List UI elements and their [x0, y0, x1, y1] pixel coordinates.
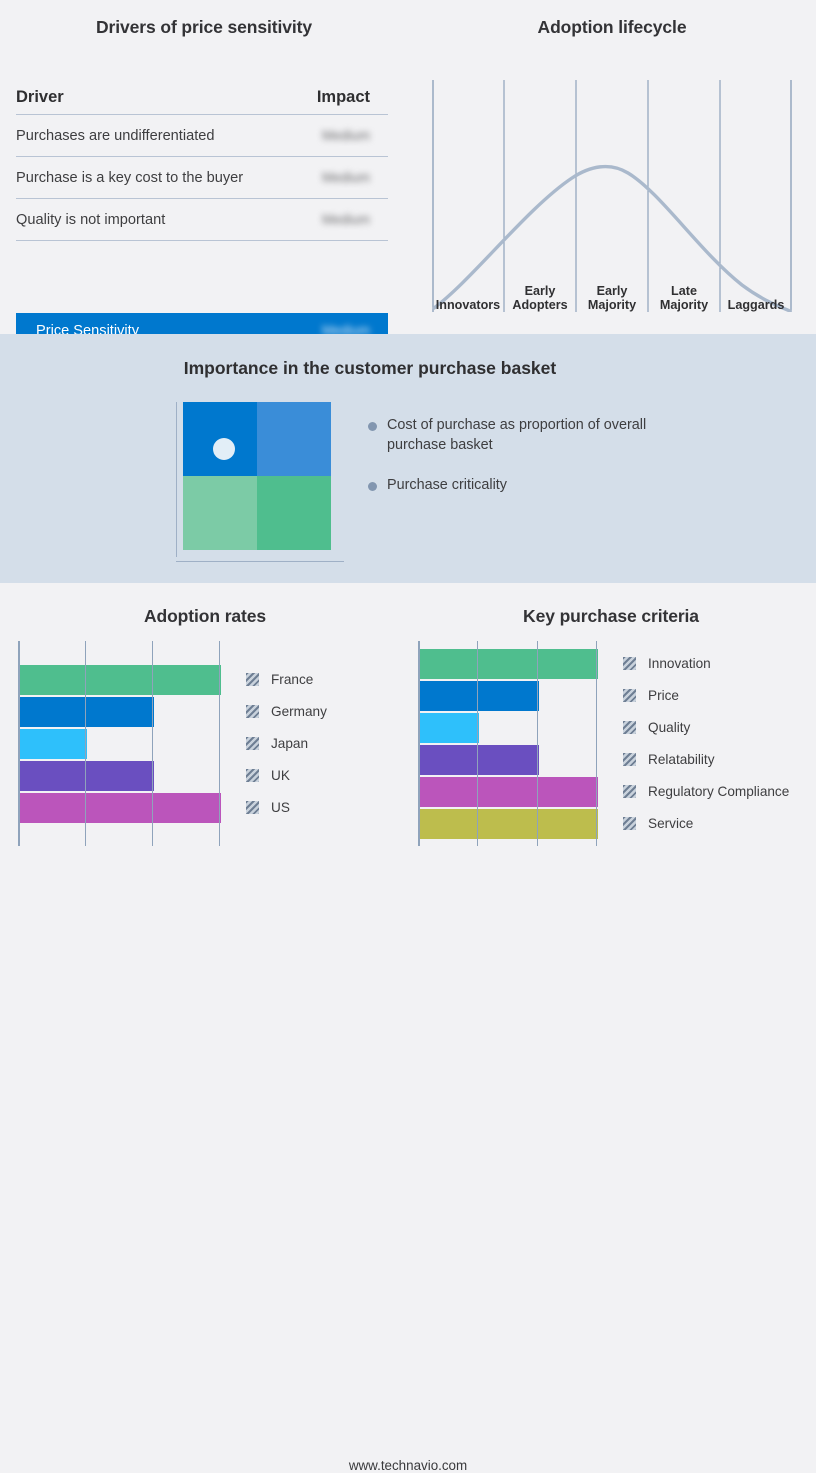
impact-value: Medium — [322, 128, 370, 143]
hatched-square-icon — [623, 785, 636, 798]
legend-label: Japan — [271, 736, 308, 751]
legend-item-cost-of-purchase: Cost of purchase as proportion of overal… — [368, 416, 668, 456]
quadrant-cell-top-right — [257, 402, 331, 476]
legend-item: UK — [246, 761, 327, 791]
adoption-rates-panel: Adoption rates FranceGermanyJapanUKUS — [0, 583, 410, 902]
table-row: Purchases are undifferentiated Medium — [16, 115, 388, 157]
legend-label: UK — [271, 768, 290, 783]
bar — [420, 745, 539, 775]
hatched-square-icon — [246, 801, 259, 814]
bar-row — [20, 729, 223, 759]
criteria-panel-title: Key purchase criteria — [406, 606, 816, 627]
bar-row — [420, 809, 600, 839]
gridline — [152, 641, 153, 846]
bar — [20, 729, 87, 759]
bar-row — [420, 777, 600, 807]
bullet-dot-icon — [368, 422, 377, 431]
legend-label: Quality — [648, 720, 690, 735]
hatched-square-icon — [623, 721, 636, 734]
lifecycle-segment-laggards: Laggards — [720, 274, 792, 314]
legend-label: Relatability — [648, 752, 715, 767]
legend-item: France — [246, 665, 327, 695]
quadrant-cell-bottom-left — [183, 476, 257, 550]
driver-label: Quality is not important — [16, 212, 165, 228]
hatched-square-icon — [246, 769, 259, 782]
quadrant-position-marker — [213, 438, 235, 460]
gridline — [537, 641, 538, 846]
bar — [420, 777, 598, 807]
column-header-impact: Impact — [317, 88, 370, 107]
drivers-of-price-sensitivity-panel: Drivers of price sensitivity Driver Impa… — [0, 0, 408, 334]
lifecycle-segment-innovators: Innovators — [432, 274, 504, 314]
legend-label: Cost of purchase as proportion of overal… — [387, 416, 649, 456]
hatched-square-icon — [623, 817, 636, 830]
bar — [20, 793, 221, 823]
hatched-square-icon — [246, 673, 259, 686]
quadrant-y-axis — [176, 402, 177, 557]
bar-row — [20, 697, 223, 727]
hatched-square-icon — [623, 753, 636, 766]
quadrant-x-axis — [176, 561, 344, 562]
criteria-plot-area — [418, 641, 598, 846]
bar-row — [420, 649, 600, 679]
criteria-legend: InnovationPriceQualityRelatabilityRegula… — [623, 641, 789, 846]
bar — [420, 809, 598, 839]
impact-value: Medium — [322, 212, 370, 227]
drivers-panel-title: Drivers of price sensitivity — [0, 17, 408, 38]
legend-item-purchase-criticality: Purchase criticality — [368, 476, 668, 496]
legend-label: Service — [648, 816, 693, 831]
criteria-bars — [420, 641, 600, 846]
legend-label: US — [271, 800, 290, 815]
quadrant-matrix-chart — [176, 402, 344, 562]
lifecycle-segment-labels: Innovators Early Adopters Early Majority… — [432, 274, 792, 314]
legend-item: Service — [623, 809, 789, 839]
purchase-basket-band: Importance in the customer purchase bask… — [0, 334, 816, 583]
bar — [20, 665, 221, 695]
legend-label: France — [271, 672, 313, 687]
legend-item: Japan — [246, 729, 327, 759]
gridline — [85, 641, 86, 846]
legend-item: Quality — [623, 713, 789, 743]
adoption-plot-area — [18, 641, 221, 846]
bar — [420, 649, 598, 679]
legend-label: Innovation — [648, 656, 711, 671]
bar-row — [420, 713, 600, 743]
bar — [20, 761, 154, 791]
drivers-table: Driver Impact Purchases are undifferenti… — [16, 88, 388, 241]
quadrant-grid — [183, 402, 331, 550]
hatched-square-icon — [623, 689, 636, 702]
legend-item: Regulatory Compliance — [623, 777, 789, 807]
gridline — [219, 641, 220, 846]
legend-item: Germany — [246, 697, 327, 727]
lifecycle-segment-early-majority: Early Majority — [576, 274, 648, 314]
lifecycle-segment-early-adopters: Early Adopters — [504, 274, 576, 314]
quadrant-cell-bottom-right — [257, 476, 331, 550]
bar-row — [20, 761, 223, 791]
adoption-panel-title: Adoption rates — [0, 606, 410, 627]
bar-row — [20, 665, 223, 695]
driver-label: Purchases are undifferentiated — [16, 128, 215, 144]
bar — [20, 697, 154, 727]
adoption-lifecycle-panel: Adoption lifecycle Innovators Early Adop… — [408, 0, 816, 334]
legend-label: Price — [648, 688, 679, 703]
bar — [420, 713, 479, 743]
adoption-legend: FranceGermanyJapanUKUS — [246, 641, 327, 846]
driver-label: Purchase is a key cost to the buyer — [16, 170, 243, 186]
legend-item: US — [246, 793, 327, 823]
impact-value: Medium — [322, 170, 370, 185]
gridline — [596, 641, 597, 846]
legend-item: Relatability — [623, 745, 789, 775]
bottom-band: Adoption rates FranceGermanyJapanUKUS Ke… — [0, 583, 816, 902]
hatched-square-icon — [246, 705, 259, 718]
basket-panel-title: Importance in the customer purchase bask… — [0, 358, 740, 379]
adoption-rates-chart: FranceGermanyJapanUKUS — [18, 641, 390, 846]
top-band: Drivers of price sensitivity Driver Impa… — [0, 0, 816, 334]
key-purchase-criteria-chart: InnovationPriceQualityRelatabilityRegula… — [418, 641, 808, 846]
legend-item: Price — [623, 681, 789, 711]
hatched-square-icon — [623, 657, 636, 670]
bar — [420, 681, 539, 711]
basket-legend: Cost of purchase as proportion of overal… — [368, 416, 668, 516]
hatched-square-icon — [246, 737, 259, 750]
lifecycle-panel-title: Adoption lifecycle — [408, 17, 816, 38]
lifecycle-segment-late-majority: Late Majority — [648, 274, 720, 314]
legend-label: Germany — [271, 704, 327, 719]
table-row: Quality is not important Medium — [16, 199, 388, 241]
bar-row — [20, 793, 223, 823]
legend-label: Regulatory Compliance — [648, 784, 789, 799]
bullet-dot-icon — [368, 482, 377, 491]
legend-item: Innovation — [623, 649, 789, 679]
table-row: Purchase is a key cost to the buyer Medi… — [16, 157, 388, 199]
key-purchase-criteria-panel: Key purchase criteria InnovationPriceQua… — [406, 583, 816, 902]
drivers-table-header: Driver Impact — [16, 88, 388, 115]
gridline — [477, 641, 478, 846]
legend-label: Purchase criticality — [387, 476, 507, 496]
bar-row — [420, 745, 600, 775]
bar-row — [420, 681, 600, 711]
adoption-bars — [20, 641, 223, 846]
footer-url: www.technavio.com — [0, 1458, 816, 1473]
column-header-driver: Driver — [16, 88, 64, 107]
